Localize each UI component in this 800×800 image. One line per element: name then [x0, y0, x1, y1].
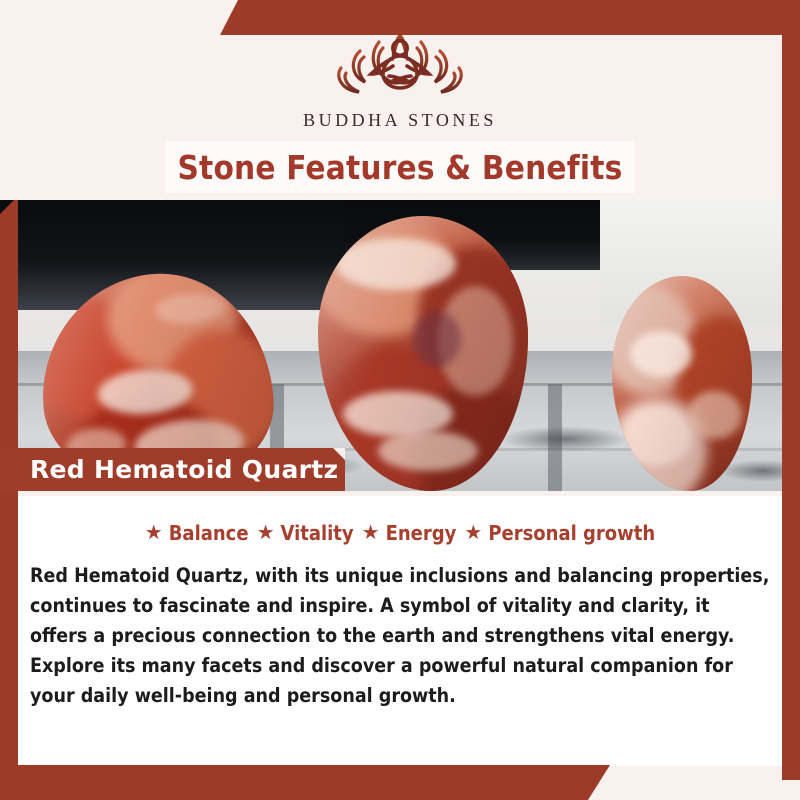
content-panel: ★ Balance ★ Vitality ★ Energy ★ Personal… — [18, 496, 782, 766]
star-icon: ★ — [362, 523, 380, 543]
feature-item: ★ Balance — [145, 521, 249, 545]
right-accent-bar — [782, 0, 800, 780]
stone-center — [318, 216, 528, 491]
star-icon: ★ — [464, 523, 482, 543]
star-icon: ★ — [145, 523, 163, 543]
feature-label: Energy — [386, 521, 457, 545]
feature-label: Personal growth — [488, 521, 655, 545]
title-strip: Stone Features & Benefits — [165, 141, 635, 193]
features-list: ★ Balance ★ Vitality ★ Energy ★ Personal… — [18, 496, 782, 545]
stone-name-banner: Red Hematoid Quartz — [0, 448, 345, 491]
page-title: Stone Features & Benefits — [177, 148, 622, 187]
stone-name-label: Red Hematoid Quartz — [30, 455, 338, 484]
banner-corner-cut — [333, 448, 345, 460]
feature-label: Balance — [169, 521, 249, 545]
poster: BUDDHA STONES Stone Features & Benefits — [0, 0, 800, 800]
brand-name: BUDDHA STONES — [303, 110, 497, 131]
bottom-accent-bar — [0, 765, 610, 800]
left-accent-bar — [0, 200, 18, 800]
feature-item: ★ Vitality — [257, 521, 354, 545]
feature-item: ★ Energy — [362, 521, 457, 545]
top-accent-bar — [220, 0, 800, 35]
stone-right — [612, 276, 752, 491]
description-text: Red Hematoid Quartz, with its unique inc… — [30, 561, 770, 711]
star-icon: ★ — [257, 523, 275, 543]
product-photo — [0, 198, 800, 491]
feature-item: ★ Personal growth — [464, 521, 655, 545]
feature-label: Vitality — [281, 521, 354, 545]
